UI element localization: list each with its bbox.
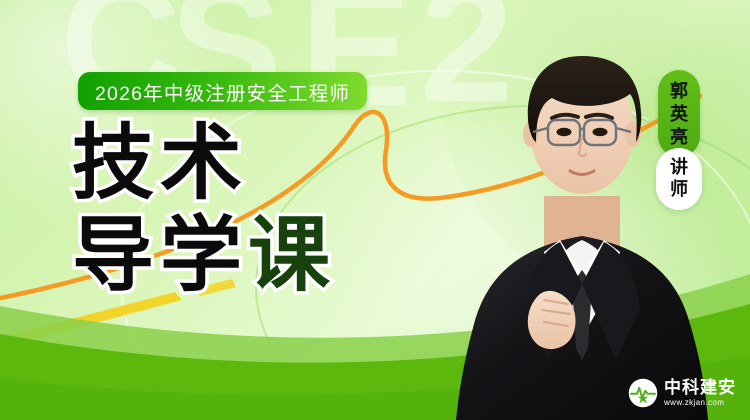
instructor-name-badge: 郭 英 亮: [658, 70, 700, 157]
brand-name: 中科建安: [664, 379, 736, 396]
brand-logo-text: 中科建安 www.zkjan.com: [664, 379, 736, 407]
instructor-portrait: [432, 8, 732, 420]
course-year-badge: 2026年中级注册安全工程师: [78, 72, 367, 110]
instructor-name-char-3: 亮: [670, 126, 688, 149]
instructor-role-char-2: 师: [670, 179, 688, 201]
instructor-role-char-1: 讲: [670, 157, 688, 179]
instructor-name-char-1: 郭: [670, 80, 688, 103]
page-title-line2: 导学课: [72, 216, 336, 296]
brand-logo: 中科建安 www.zkjan.com: [628, 378, 736, 408]
brand-url: www.zkjan.com: [664, 399, 736, 407]
instructor-role-badge: 讲 师: [656, 148, 702, 210]
poster-title-block: 技术 导学课: [72, 124, 336, 297]
page-title-line2-accent: 课: [248, 210, 336, 301]
course-poster: C S E 2: [0, 0, 750, 420]
pulse-star-icon: [628, 378, 658, 408]
page-title-line1: 技术: [72, 124, 336, 204]
instructor-name-char-2: 英: [670, 103, 688, 126]
course-year-badge-label: 2026年中级注册安全工程师: [95, 77, 350, 106]
page-title-line2-main: 导学: [72, 210, 248, 301]
